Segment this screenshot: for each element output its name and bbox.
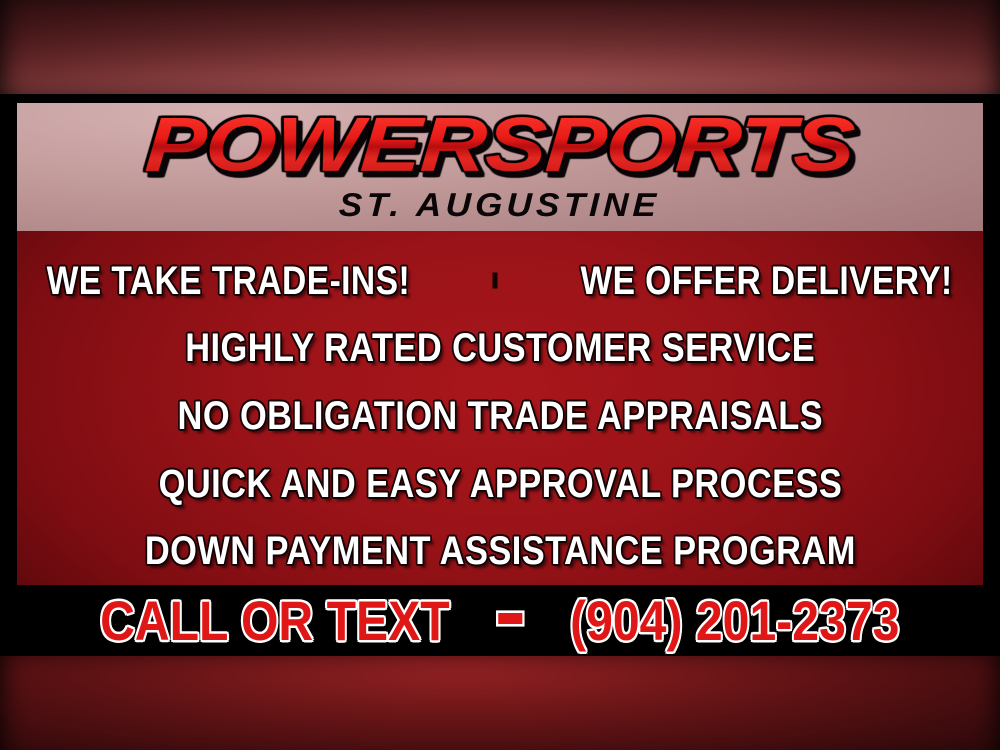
feature-row-approval-process: QUICK AND EASY APPROVAL PROCESS (17, 450, 983, 518)
feature-text-delivery: WE OFFER DELIVERY! (580, 259, 952, 303)
feature-text-trade-ins: WE TAKE TRADE-INS! (47, 259, 410, 303)
feature-text-down-payment-assistance: DOWN PAYMENT ASSISTANCE PROGRAM (145, 529, 856, 573)
feature-row-down-payment: DOWN PAYMENT ASSISTANCE PROGRAM (17, 517, 983, 585)
call-to-action-bar: CALL OR TEXT(904) 201-2373 (0, 585, 1000, 656)
feature-text-trade-appraisals: NO OBLIGATION TRADE APPRAISALS (177, 394, 822, 438)
cta-phone-number[interactable]: (904) 201-2373 (570, 589, 899, 652)
feature-row-trade-delivery: WE TAKE TRADE-INS! WE OFFER DELIVERY! (17, 247, 983, 315)
cta-line: CALL OR TEXT(904) 201-2373 (100, 592, 899, 650)
cta-action-label: CALL OR TEXT (100, 589, 450, 652)
background-blur-top (0, 0, 1000, 104)
background-blur-bottom (0, 646, 1000, 750)
features-panel: WE TAKE TRADE-INS! WE OFFER DELIVERY! HI… (17, 231, 983, 585)
feature-text-approval-process: QUICK AND EASY APPROVAL PROCESS (158, 462, 842, 506)
powersports-advertisement: POWERSPORTS ST. AUGUSTINE WE TAKE TRADE-… (0, 0, 1000, 750)
features-list: WE TAKE TRADE-INS! WE OFFER DELIVERY! HI… (17, 231, 983, 585)
brand-location-st-augustine: ST. AUGUSTINE (339, 187, 662, 223)
brand-logo-powersports: POWERSPORTS (143, 104, 856, 186)
feature-row-customer-service: HIGHLY RATED CUSTOMER SERVICE (17, 315, 983, 383)
feature-text-customer-service: HIGHLY RATED CUSTOMER SERVICE (185, 326, 815, 370)
feature-row-trade-appraisals: NO OBLIGATION TRADE APPRAISALS (17, 382, 983, 450)
logo-stack: POWERSPORTS ST. AUGUSTINE (17, 103, 983, 231)
cta-separator-dash-icon (498, 613, 522, 624)
logo-header-panel: POWERSPORTS ST. AUGUSTINE (17, 103, 983, 231)
